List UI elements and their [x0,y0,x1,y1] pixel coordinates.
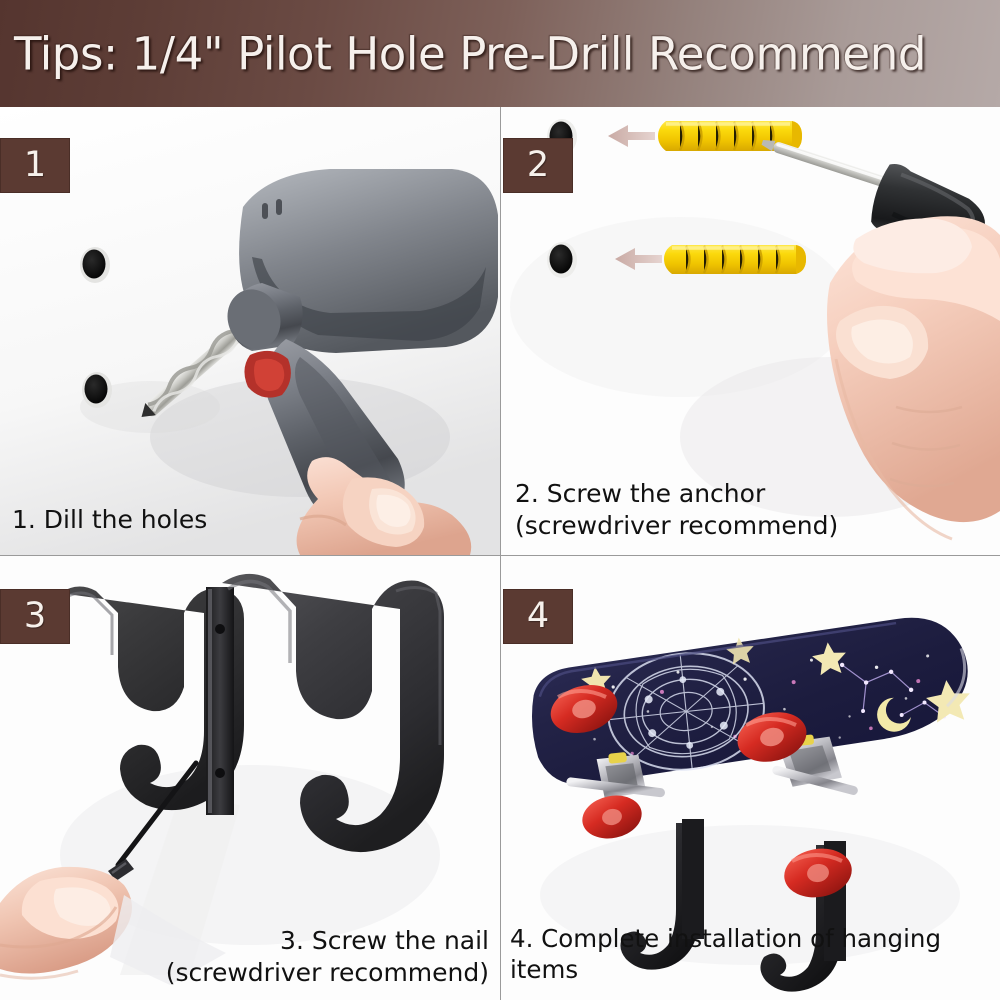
step-badge-1: 1 [0,138,70,193]
vertical-divider [500,107,501,1000]
step-panel-1: 1 1. Dill the holes [0,107,500,555]
steps-grid: 1 1. Dill the holes [0,107,1000,1000]
step-caption-3: 3. Screw the nail (screwdriver recommend… [166,925,489,988]
step-badge-4: 4 [503,589,573,644]
step-caption-1: 1. Dill the holes [12,504,207,536]
step-caption-4: 4. Complete installation of hanging item… [510,924,1000,986]
step-badge-2: 2 [503,138,573,193]
step-caption-2: 2. Screw the anchor (screwdriver recomme… [515,478,838,541]
step-badge-3: 3 [0,589,70,644]
header-banner: Tips: 1/4" Pilot Hole Pre-Drill Recommen… [0,0,1000,107]
infographic-page: Tips: 1/4" Pilot Hole Pre-Drill Recommen… [0,0,1000,1000]
horizontal-divider [0,555,1000,556]
header-title: Tips: 1/4" Pilot Hole Pre-Drill Recommen… [14,30,926,77]
step-panel-3: 3 3. Screw the nail (screwdriver recomme… [0,555,500,1000]
drill-illustration [0,107,500,555]
step-panel-2: 2 2. Screw the anchor (screwdriver recom… [500,107,1000,555]
step-panel-4: 4 4. Complete installation of hanging it… [500,555,1000,1000]
